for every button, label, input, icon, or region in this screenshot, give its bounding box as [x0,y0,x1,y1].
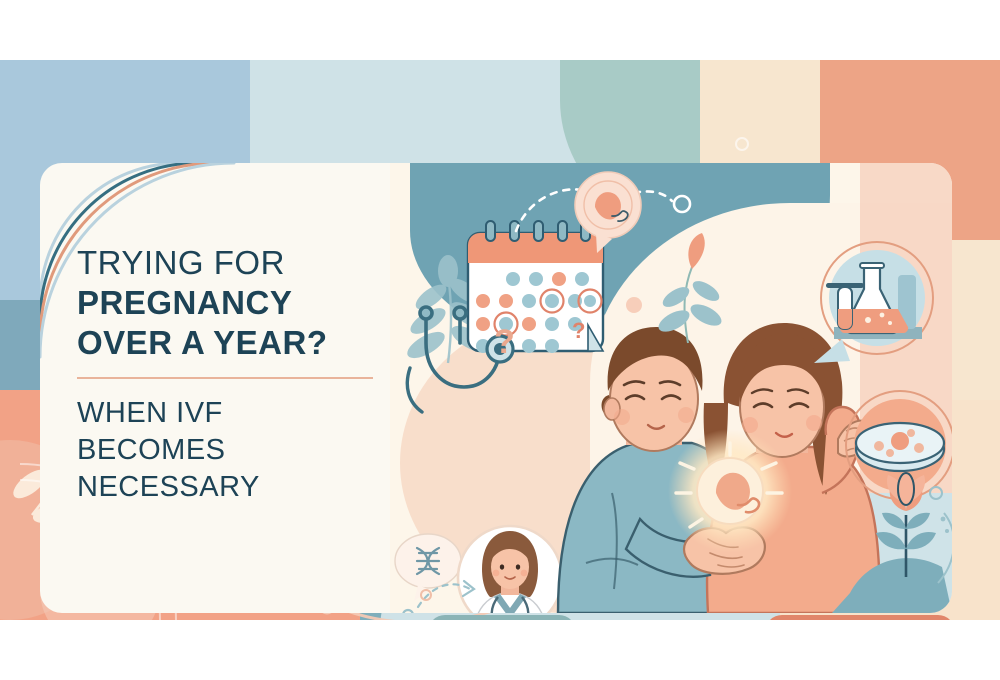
learn-more-button[interactable]: LEARN MORE [428,615,576,620]
question-mark-large: ? [494,323,515,361]
banner-background: TRYING FOR PREGNANCY OVER A YEAR? WHEN I… [0,60,1000,620]
fertility-path-button[interactable]: YOUR FERTILITY PATH [765,615,955,620]
glowing-embryo [668,429,792,553]
headline-divider [77,377,373,379]
subheadline-line-1: WHEN IVF [77,395,417,432]
headline-block: TRYING FOR PREGNANCY OVER A YEAR? WHEN I… [77,243,417,506]
calendar-icon: ? [468,221,603,353]
subheadline-line-3: NECESSARY [77,469,417,506]
bg-circle-outline [736,138,748,150]
banner-stage: TRYING FOR PREGNANCY OVER A YEAR? WHEN I… [0,0,1000,680]
lab-flask-bubble [814,242,933,363]
cta-row: LEARN MORE YOUR FERTILITY PATH [0,615,1000,620]
content-card: TRYING FOR PREGNANCY OVER A YEAR? WHEN I… [40,163,952,613]
subheadline-line-2: BECOMES [77,432,417,469]
headline-line-1: TRYING FOR [77,243,417,283]
headline-line-3: OVER A YEAR? [77,323,417,363]
calendar-question-mark: ? [572,318,585,343]
leaf-sprig-top-right [626,233,725,343]
illustration-svg: ? [390,163,952,613]
illustration-panel: ? [390,163,952,613]
stethoscope-icon-2 [407,368,422,412]
headline-line-2: PREGNANCY [77,283,417,323]
